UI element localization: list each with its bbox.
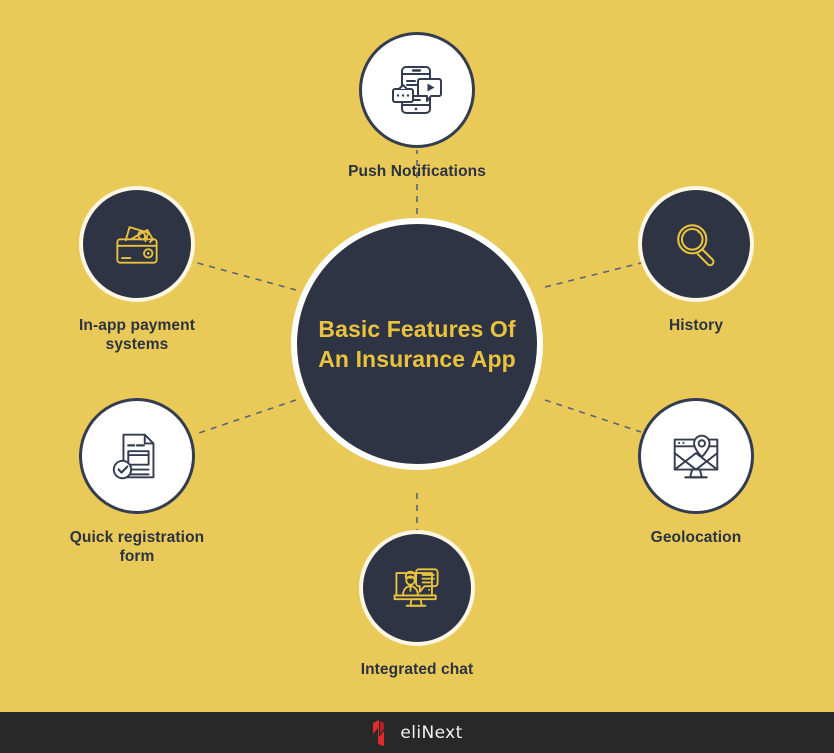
- node-geolocation[interactable]: Geolocation: [606, 398, 786, 547]
- center-hub-title: Basic Features Of An Insurance App: [304, 314, 530, 375]
- node-circle-history[interactable]: [638, 186, 754, 302]
- infographic-canvas: Basic Features Of An Insurance App: [0, 0, 834, 712]
- node-circle-integrated-chat[interactable]: [359, 530, 475, 646]
- node-integrated-chat[interactable]: Integrated chat: [327, 530, 507, 679]
- elinext-n-logo-icon: [371, 720, 391, 746]
- node-history[interactable]: History: [606, 186, 786, 335]
- node-label-integrated-chat: Integrated chat: [361, 660, 474, 679]
- node-circle-in-app-payment-systems[interactable]: [79, 186, 195, 302]
- node-in-app-payment-systems[interactable]: In-app payment systems: [47, 186, 227, 355]
- node-quick-registration-form[interactable]: Quick registration form: [47, 398, 227, 567]
- node-label-in-app-payment-systems: In-app payment systems: [79, 316, 195, 355]
- monitor-chat-person-icon: [388, 559, 446, 617]
- document-check-icon: [107, 426, 167, 486]
- footer-logo[interactable]: eliNext: [371, 720, 462, 746]
- mobile-notification-icon: [386, 59, 448, 121]
- node-label-geolocation: Geolocation: [651, 528, 742, 547]
- center-hub: Basic Features Of An Insurance App: [291, 218, 543, 470]
- magnifying-glass-icon: [667, 215, 725, 273]
- footer-bar: eliNext: [0, 712, 834, 753]
- node-push-notifications[interactable]: Push Notifications: [327, 32, 507, 181]
- node-circle-quick-registration-form[interactable]: [79, 398, 195, 514]
- node-label-push-notifications: Push Notifications: [348, 162, 486, 181]
- wallet-money-icon: [108, 215, 166, 273]
- map-monitor-pin-icon: [666, 426, 726, 486]
- node-label-quick-registration-form: Quick registration form: [70, 528, 204, 567]
- footer-brand-name: eliNext: [400, 723, 462, 743]
- node-circle-geolocation[interactable]: [638, 398, 754, 514]
- node-label-history: History: [669, 316, 723, 335]
- node-circle-push-notifications[interactable]: [359, 32, 475, 148]
